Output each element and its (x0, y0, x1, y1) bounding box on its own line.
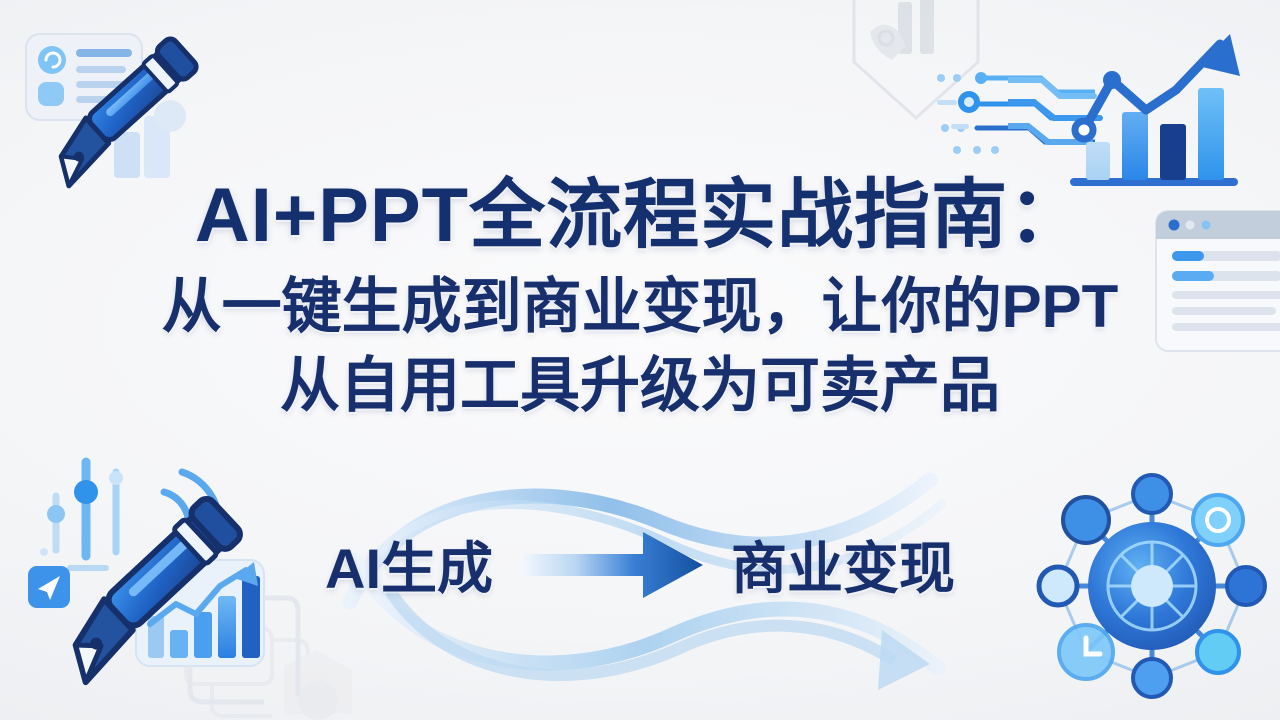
right-arrow-icon (519, 528, 705, 602)
page-subtitle-line-1: 从一键生成到商业变现，让你的PPT (0, 269, 1280, 346)
poster-canvas: AI+PPT全流程实战指南： 从一键生成到商业变现，让你的PPT 从自用工具升级… (0, 0, 1280, 720)
flow-banner-left-label: AI生成 (325, 524, 493, 605)
flow-banner-right-label: 商业变现 (731, 524, 955, 605)
page-title: AI+PPT全流程实战指南： (0, 176, 1280, 255)
flow-banner: AI生成 商业变现 (0, 524, 1280, 605)
page-subtitle-line-2: 从自用工具升级为可卖产品 (0, 348, 1280, 425)
title-block: AI+PPT全流程实战指南： 从一键生成到商业变现，让你的PPT 从自用工具升级… (0, 176, 1280, 425)
